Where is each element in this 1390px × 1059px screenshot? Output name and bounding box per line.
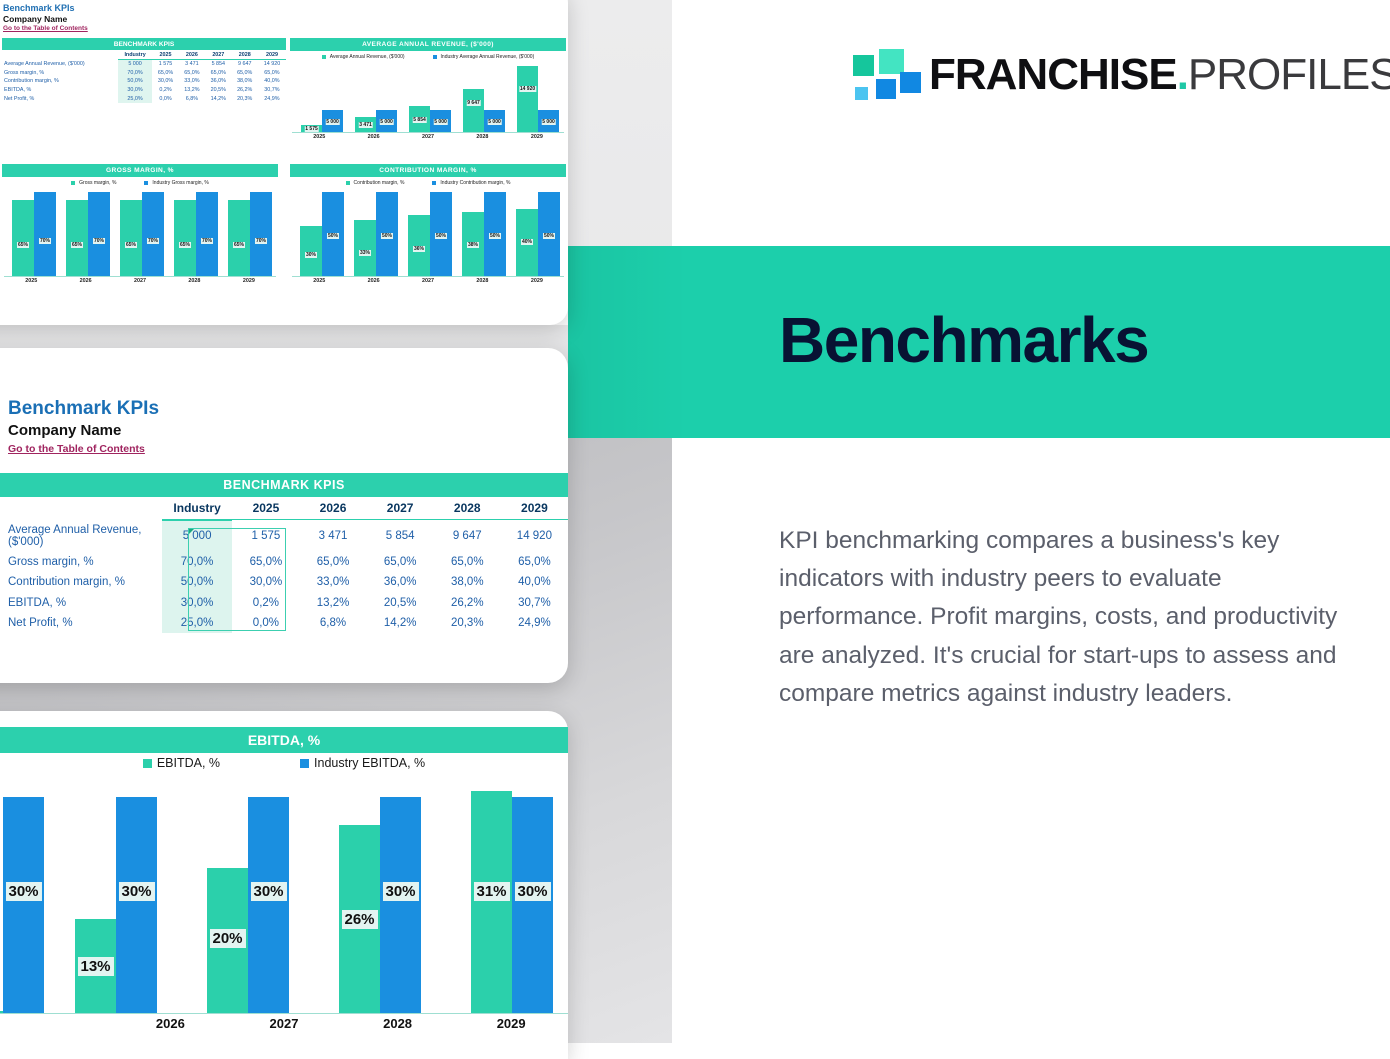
bar-industry: 30% [512, 797, 553, 1013]
bar-industry: 5 000 [538, 110, 559, 132]
legend-label: Industry EBITDA, % [314, 756, 425, 770]
bar-company: 40% [516, 209, 538, 276]
legend-swatch-icon [71, 181, 75, 185]
tick-label: 2028 [455, 278, 509, 289]
cell-2026: 3 471 [299, 520, 366, 552]
mini-cell: 14,2% [205, 94, 231, 103]
mini-cell: 50,0% [118, 77, 153, 86]
tick-label: 2029 [510, 134, 564, 145]
logo-text-bold: FRANCHISE [929, 50, 1177, 99]
cell-industry[interactable]: 5 000 [162, 520, 233, 552]
cell-industry[interactable]: 30,0% [162, 593, 233, 613]
mini-toc-link[interactable]: Go to the Table of Contents [3, 25, 88, 32]
cell-2027: 5 854 [367, 520, 434, 552]
legend-item: Industry Gross margin, % [144, 180, 208, 186]
bar-company: 20% [207, 868, 248, 1013]
chart-gross-margin: GROSS MARGIN, % Gross margin, % Industry… [2, 164, 278, 304]
legend-swatch-icon [300, 759, 309, 768]
bar-company: 26% [339, 825, 380, 1013]
row-label: Net Profit, % [0, 613, 162, 633]
bar-company: 31% [471, 791, 512, 1013]
mini-row-label: EBITDA, % [2, 86, 118, 95]
chart-x-ticks: 2025 2026 2027 2028 2029 [0, 1016, 568, 1031]
bar-industry: 50% [322, 192, 344, 276]
tick-label: 2026 [114, 1016, 228, 1031]
col-blank [0, 497, 162, 520]
page-title: Benchmark KPIs [8, 398, 159, 420]
bar-company: 38% [462, 212, 484, 276]
mini-cell: 65,0% [179, 69, 205, 78]
tick-label: 2025 [292, 134, 346, 145]
tick-label: 2029 [222, 278, 276, 289]
table-row: Gross margin, % 70,0% 65,0% 65,0% 65,0% … [0, 552, 568, 572]
table-row: EBITDA, % 30,0% 0,2% 13,2% 20,5% 26,2% 3… [0, 593, 568, 613]
legend-swatch-icon [322, 55, 326, 59]
cell-2028: 20,3% [434, 613, 501, 633]
legend-item: Gross margin, % [71, 180, 116, 186]
chart-plot: 1 575 5 000 3 471 5 000 5 854 5 000 9 64… [290, 64, 566, 146]
chart-legend: EBITDA, % Industry EBITDA, % [0, 756, 568, 770]
cell-industry[interactable]: 70,0% [162, 552, 233, 572]
bar-company: 33% [354, 220, 376, 276]
logo-text-light: PROFILES [1188, 50, 1390, 99]
mini-row-label: Average Annual Revenue, ($'000) [2, 60, 118, 69]
bar-industry: 70% [196, 192, 218, 276]
hero-description: KPI benchmarking compares a business's k… [779, 522, 1359, 713]
benchmark-kpis-table: BENCHMARK KPIS Industry 2025 2026 2027 2… [0, 473, 568, 633]
tick-label: 2027 [113, 278, 167, 289]
legend-label: EBITDA, % [157, 756, 220, 770]
mini-cell: 14 920 [258, 60, 286, 69]
mini-cell: 0,2% [152, 86, 178, 95]
brand-logo: FRANCHISE.PROFILES [853, 44, 1390, 106]
legend-swatch-icon [144, 181, 148, 185]
cell-2025: 30,0% [232, 572, 299, 592]
mini-sheet-title: Benchmark KPIs [3, 3, 75, 13]
cell-2027: 14,2% [367, 613, 434, 633]
mini-row-label: Gross margin, % [2, 69, 118, 78]
mini-cell: 26,2% [232, 86, 258, 95]
mini-cell: 5 854 [205, 60, 231, 69]
legend-item: Industry EBITDA, % [300, 756, 425, 770]
mini-cell: 0,0% [152, 94, 178, 103]
cell-2028: 26,2% [434, 593, 501, 613]
cell-2027: 65,0% [367, 552, 434, 572]
mini-cell: 65,0% [232, 69, 258, 78]
chart-plot: 65% 70% 65% 70% 65% 70% 65% 70% [2, 190, 278, 290]
logo-wordmark: FRANCHISE.PROFILES [929, 53, 1390, 97]
bar-industry: 30% [3, 797, 44, 1013]
cell-2029: 24,9% [501, 613, 568, 633]
chart-x-ticks: 2025 2026 2027 2028 2029 [4, 278, 276, 289]
tick-label: 2025 [4, 278, 58, 289]
bar-industry: 30% [380, 797, 421, 1013]
table-row: Net Profit, % 25,0% 0,0% 6,8% 14,2% 20,3… [0, 613, 568, 633]
mini-cell: 33,0% [179, 77, 205, 86]
bar-company: 14 920 [517, 66, 538, 132]
kpi-table-card: Benchmark KPIs Company Name Go to the Ta… [0, 348, 568, 683]
chart-contribution-margin: CONTRIBUTION MARGIN, % Contribution marg… [290, 164, 566, 304]
mini-cell: 40,0% [258, 77, 286, 86]
mini-cell: 13,2% [179, 86, 205, 95]
legend-swatch-icon [346, 181, 350, 185]
mini-cell: 24,9% [258, 94, 286, 103]
chart-x-ticks: 2025 2026 2027 2028 2029 [292, 134, 564, 145]
table-banner: BENCHMARK KPIS [0, 473, 568, 497]
bar-company: 9 647 [463, 89, 484, 132]
tick-label: 2029 [510, 278, 564, 289]
legend-label: Contribution margin, % [354, 180, 405, 186]
table-row: Average Annual Revenue, ($'000) 5 000 1 … [2, 60, 286, 69]
cell-2025: 1 575 [232, 520, 299, 552]
tick-label: 2027 [227, 1016, 341, 1031]
legend-label: Industry Gross margin, % [152, 180, 208, 186]
cell-2026: 33,0% [299, 572, 366, 592]
bar-company: 13% [75, 919, 116, 1013]
tick-label: 2025 [292, 278, 346, 289]
bar-industry: 70% [34, 192, 56, 276]
legend-item: EBITDA, % [143, 756, 220, 770]
tick-label: 2026 [346, 278, 400, 289]
cell-2026: 13,2% [299, 593, 366, 613]
cell-2027: 20,5% [367, 593, 434, 613]
company-name: Company Name [8, 422, 121, 439]
hero-title: Benchmarks [779, 308, 1148, 372]
legend-swatch-icon [143, 759, 152, 768]
mini-cell: 36,0% [205, 77, 231, 86]
bar-company: 36% [408, 215, 430, 276]
bar-company: 3 471 [355, 117, 376, 132]
row-label: Gross margin, % [0, 552, 162, 572]
col-2028: 2028 [434, 497, 501, 520]
bar-company: 1 575 [301, 125, 322, 132]
bar-company: 65% [12, 200, 34, 276]
table-row: Average Annual Revenue, ($'000) 5 000 1 … [0, 520, 568, 552]
mini-kpi-table: BENCHMARK KPIS Industry 2025 2026 2027 2… [2, 38, 286, 103]
mini-table-header-row: Industry 2025 2026 2027 2028 2029 [2, 50, 286, 60]
mini-cell: 30,7% [258, 86, 286, 95]
mini-col-2029: 2029 [258, 50, 286, 60]
mini-cell: 5 000 [118, 60, 153, 69]
logo-text-dot: . [1177, 50, 1188, 99]
mini-row-label: Contribution margin, % [2, 77, 118, 86]
mini-col-2028: 2028 [232, 50, 258, 60]
mini-cell: 20,5% [205, 86, 231, 95]
table-row: EBITDA, % 30,0% 0,2% 13,2% 20,5% 26,2% 3… [2, 86, 286, 95]
chart-legend: Gross margin, % Industry Gross margin, % [2, 180, 278, 186]
mini-spreadsheet: Benchmark KPIs Company Name Go to the Ta… [0, 0, 568, 325]
tick-label: 2026 [58, 278, 112, 289]
bar-company: 30% [300, 226, 322, 276]
mini-kpi-table-banner: BENCHMARK KPIS [2, 38, 286, 50]
chart-title: AVERAGE ANNUAL REVENUE, ($'000) [290, 38, 566, 51]
mini-cell: 65,0% [258, 69, 286, 78]
teal-band-shadow [568, 246, 688, 438]
cell-2025: 0,0% [232, 613, 299, 633]
mini-cell: 6,8% [179, 94, 205, 103]
tick-label: 2028 [341, 1016, 455, 1031]
logo-squares-icon [853, 49, 915, 101]
cell-2025: 65,0% [232, 552, 299, 572]
chart-legend: Contribution margin, % Industry Contribu… [290, 180, 566, 186]
tick-label: 2028 [167, 278, 221, 289]
bar-industry: 50% [376, 192, 398, 276]
col-2026: 2026 [299, 497, 366, 520]
chart-title: CONTRIBUTION MARGIN, % [290, 164, 566, 177]
ebitda-sheet: EBITDA, % EBITDA, % Industry EBITDA, % 3… [0, 711, 568, 1059]
mini-row-label: Net Profit, % [2, 94, 118, 103]
col-2025: 2025 [232, 497, 299, 520]
bar-industry: 30% [116, 797, 157, 1013]
table-header-row: Industry 2025 2026 2027 2028 2029 [0, 497, 568, 520]
kpi-spreadsheet: Benchmark KPIs Company Name Go to the Ta… [0, 348, 568, 683]
cell-2027: 36,0% [367, 572, 434, 592]
chart-average-annual-revenue: AVERAGE ANNUAL REVENUE, ($'000) Average … [290, 38, 566, 160]
cell-2028: 38,0% [434, 572, 501, 592]
mini-col-2027: 2027 [205, 50, 231, 60]
mini-cell: 65,0% [152, 69, 178, 78]
cell-2029: 14 920 [501, 520, 568, 552]
mini-cell: 38,0% [232, 77, 258, 86]
tick-label: 2028 [455, 134, 509, 145]
row-label: EBITDA, % [0, 593, 162, 613]
legend-label: Gross margin, % [79, 180, 116, 186]
bar-industry: 50% [538, 192, 560, 276]
dashboard-card-top: Benchmark KPIs Company Name Go to the Ta… [0, 0, 568, 325]
tick-label: 2029 [454, 1016, 568, 1031]
table-row: Contribution margin, % 50,0% 30,0% 33,0%… [2, 77, 286, 86]
legend-swatch-icon [433, 55, 437, 59]
tick-label: 2027 [401, 134, 455, 145]
mini-cell: 25,0% [118, 94, 153, 103]
row-label: Contribution margin, % [0, 572, 162, 592]
mini-cell: 20,3% [232, 94, 258, 103]
mini-cell: 30,0% [152, 77, 178, 86]
bar-industry: 70% [88, 192, 110, 276]
bar-company: 65% [66, 200, 88, 276]
legend-item: Contribution margin, % [346, 180, 405, 186]
bar-industry: 5 000 [484, 110, 505, 132]
bar-industry: 70% [250, 192, 272, 276]
chart-x-ticks: 2025 2026 2027 2028 2029 [292, 278, 564, 289]
cell-industry[interactable]: 25,0% [162, 613, 233, 633]
bar-industry: 30% [248, 797, 289, 1013]
mini-company-name: Company Name [3, 14, 67, 24]
mini-col-industry: Industry [118, 50, 153, 60]
legend-label: Industry Contribution margin, % [440, 180, 510, 186]
cell-2029: 65,0% [501, 552, 568, 572]
mini-cell: 3 471 [179, 60, 205, 69]
table-row: Contribution margin, % 50,0% 30,0% 33,0%… [0, 572, 568, 592]
ebitda-chart-card: EBITDA, % EBITDA, % Industry EBITDA, % 3… [0, 711, 568, 1059]
col-2027: 2027 [367, 497, 434, 520]
legend-swatch-icon [432, 181, 436, 185]
mini-col-blank [2, 50, 118, 60]
mini-col-2025: 2025 [152, 50, 178, 60]
toc-link[interactable]: Go to the Table of Contents [8, 443, 145, 455]
row-label: Average Annual Revenue, ($'000) [0, 520, 162, 552]
table-row: Gross margin, % 70,0% 65,0% 65,0% 65,0% … [2, 69, 286, 78]
col-industry: Industry [162, 497, 233, 520]
chart-title: EBITDA, % [0, 727, 568, 753]
bar-industry: 5 000 [430, 110, 451, 132]
bar-company: 65% [174, 200, 196, 276]
bar-company: 65% [120, 200, 142, 276]
col-2029: 2029 [501, 497, 568, 520]
bar-industry: 5 000 [322, 110, 343, 132]
cell-2028: 65,0% [434, 552, 501, 572]
bar-company: 65% [228, 200, 250, 276]
tick-label: 2026 [346, 134, 400, 145]
cell-2029: 30,7% [501, 593, 568, 613]
mini-cell: 9 647 [232, 60, 258, 69]
chart-plot: 30% 50% 33% 50% 36% 50% 38% 50% [290, 190, 566, 290]
tick-label: 2027 [401, 278, 455, 289]
bar-industry: 50% [484, 192, 506, 276]
cell-2026: 6,8% [299, 613, 366, 633]
mini-cell: 30,0% [118, 86, 153, 95]
mini-cell: 1 575 [152, 60, 178, 69]
slide-canvas: Benchmark KPIs Company Name Go to the Ta… [0, 0, 1390, 1043]
mini-col-2026: 2026 [179, 50, 205, 60]
bar-industry: 70% [142, 192, 164, 276]
cell-industry[interactable]: 50,0% [162, 572, 233, 592]
chart-title: GROSS MARGIN, % [2, 164, 278, 177]
chart-plot: 30% 13% 30% 20% 30% 26% 30% 31% 30% [0, 791, 568, 1013]
mini-cell: 65,0% [205, 69, 231, 78]
table-row: Net Profit, % 25,0% 0,0% 6,8% 14,2% 20,3… [2, 94, 286, 103]
mini-cell: 70,0% [118, 69, 153, 78]
bar-industry: 5 000 [376, 110, 397, 132]
cell-2029: 40,0% [501, 572, 568, 592]
cell-2026: 65,0% [299, 552, 366, 572]
legend-item: Industry Contribution margin, % [432, 180, 510, 186]
chart-axis-line [0, 1013, 568, 1014]
bar-industry: 50% [430, 192, 452, 276]
bar-company: 5 854 [409, 106, 430, 132]
cell-2028: 9 647 [434, 520, 501, 552]
cell-2025: 0,2% [232, 593, 299, 613]
